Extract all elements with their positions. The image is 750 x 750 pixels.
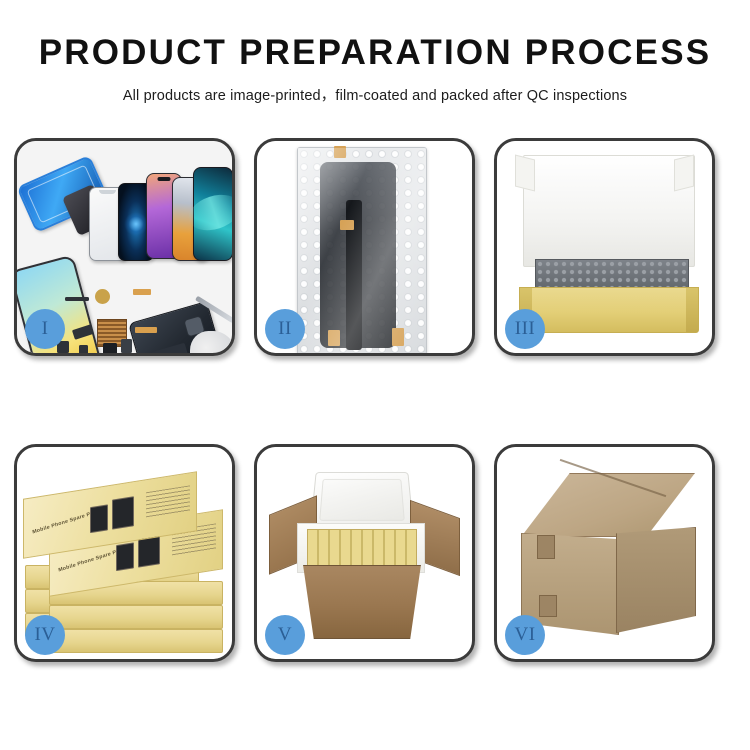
step-badge-2: II — [265, 309, 305, 349]
step-panel-5[interactable]: V — [254, 444, 475, 662]
box-lid-image — [523, 155, 695, 267]
carton-top-face — [521, 473, 695, 537]
tape-tab-top-icon — [334, 146, 346, 158]
step-badge-4: IV — [25, 615, 65, 655]
step-panel-1[interactable]: I — [14, 138, 235, 356]
antenna-strip-icon — [65, 297, 89, 301]
carton-front-panel — [295, 565, 429, 639]
tape-tab-bottom-left-icon — [328, 330, 340, 346]
step-panel-2[interactable]: II — [254, 138, 475, 356]
step-badge-1: I — [25, 309, 65, 349]
box-art-thumb-back-1 — [90, 504, 108, 533]
carton-tape-lower — [539, 595, 557, 617]
bubble-wrap-bag-image — [297, 147, 427, 353]
stacked-box-e — [49, 605, 223, 629]
box-lid-flap-left — [515, 155, 535, 192]
carton-tape-upper — [537, 535, 555, 559]
battery-part-icon — [146, 343, 189, 353]
sim-tray-icon — [79, 345, 88, 353]
process-step-grid: I II — [14, 138, 736, 678]
page-header: PRODUCT PREPARATION PROCESS All products… — [0, 0, 750, 105]
stacked-box-d — [49, 629, 223, 653]
screw-kit-icon — [121, 339, 132, 353]
packed-boxes-rows-image — [307, 529, 417, 567]
page-title: PRODUCT PREPARATION PROCESS — [0, 34, 750, 73]
step-badge-5: V — [265, 615, 305, 655]
yellow-box-base-image — [519, 287, 699, 333]
camera-lens-icon — [103, 343, 117, 353]
flex-cable-icon — [133, 289, 151, 295]
tape-tab-bottom-right-icon — [392, 328, 404, 346]
technician-hand-image — [190, 331, 232, 353]
box-lid-flap-right — [674, 155, 694, 192]
box-spec-text-back — [146, 485, 190, 518]
teal-gradient-display-image — [193, 167, 232, 261]
box-art-thumb-front-1 — [116, 542, 134, 571]
flex-cable-2-icon — [135, 327, 157, 333]
foam-lid-inner — [319, 479, 405, 521]
speaker-part-icon — [95, 289, 110, 304]
step-panel-4[interactable]: Mobile Phone Spare Parts Mobile Phone Sp… — [14, 444, 235, 662]
step-panel-6[interactable]: VI — [494, 444, 715, 662]
foam-lid-image — [310, 472, 414, 529]
tape-tab-mid-icon — [340, 220, 354, 230]
step-badge-6: VI — [505, 615, 545, 655]
box-art-thumb-back-2 — [112, 496, 134, 529]
page-subtitle: All products are image-printed，film-coat… — [0, 73, 750, 105]
step-panel-3[interactable]: III — [494, 138, 715, 356]
product-preparation-page: PRODUCT PREPARATION PROCESS All products… — [0, 0, 750, 750]
carton-right-face — [616, 527, 696, 633]
step-badge-3: III — [505, 309, 545, 349]
